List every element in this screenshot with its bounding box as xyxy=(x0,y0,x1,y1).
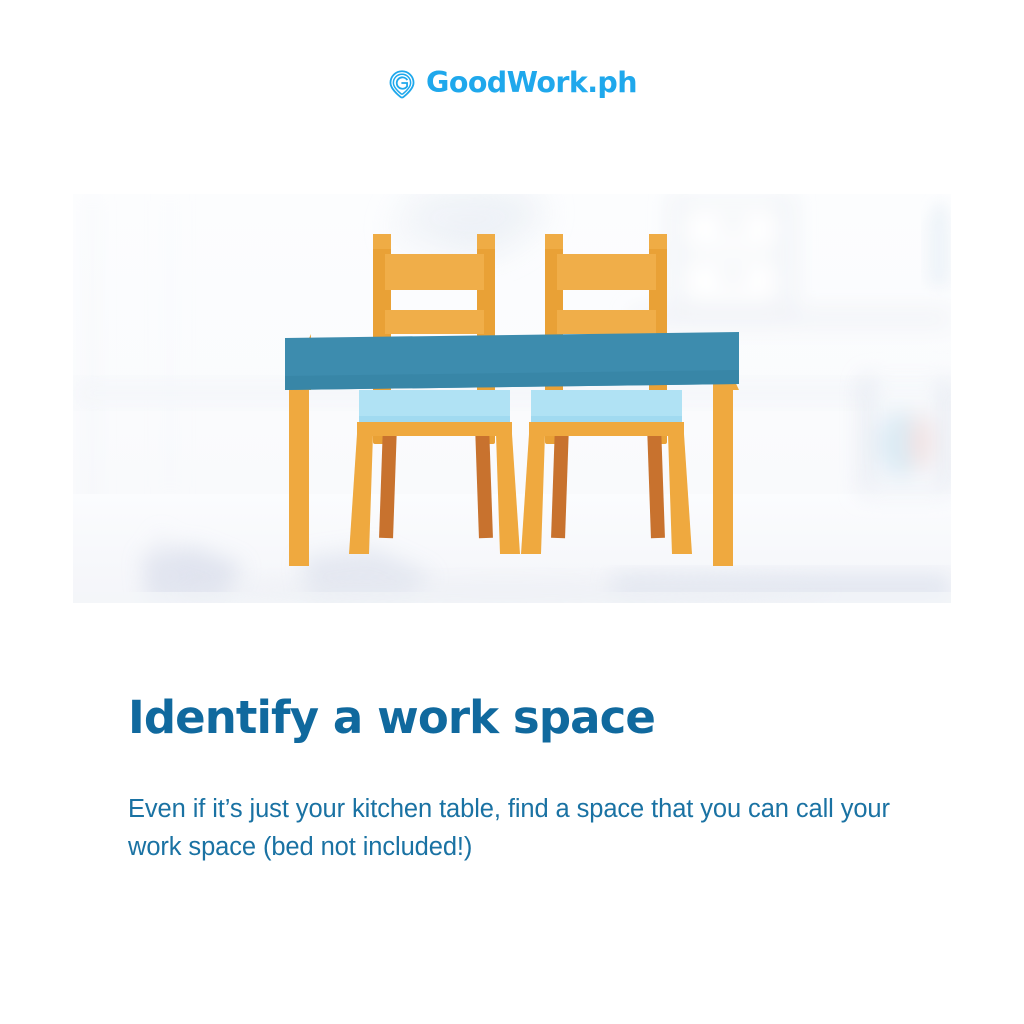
table-leg-right xyxy=(713,384,733,566)
page-title: Identify a work space xyxy=(128,694,928,742)
kitchen-table-scene-svg xyxy=(73,194,951,603)
table-leg-left xyxy=(289,384,309,566)
location-pin-g-logo-icon xyxy=(387,69,417,99)
text-block: Identify a work space Even if it’s just … xyxy=(128,694,928,867)
brand-logo[interactable]: GoodWork.ph xyxy=(0,60,1024,106)
slide-canvas: GoodWork.ph xyxy=(0,0,1024,1024)
brand-name: GoodWork.ph xyxy=(426,69,637,98)
body-paragraph: Even if it’s just your kitchen table, fi… xyxy=(128,742,918,868)
hero-illustration xyxy=(73,194,951,603)
hero-background-framed-picture xyxy=(859,376,951,495)
hero-floor-shadow xyxy=(173,576,833,603)
